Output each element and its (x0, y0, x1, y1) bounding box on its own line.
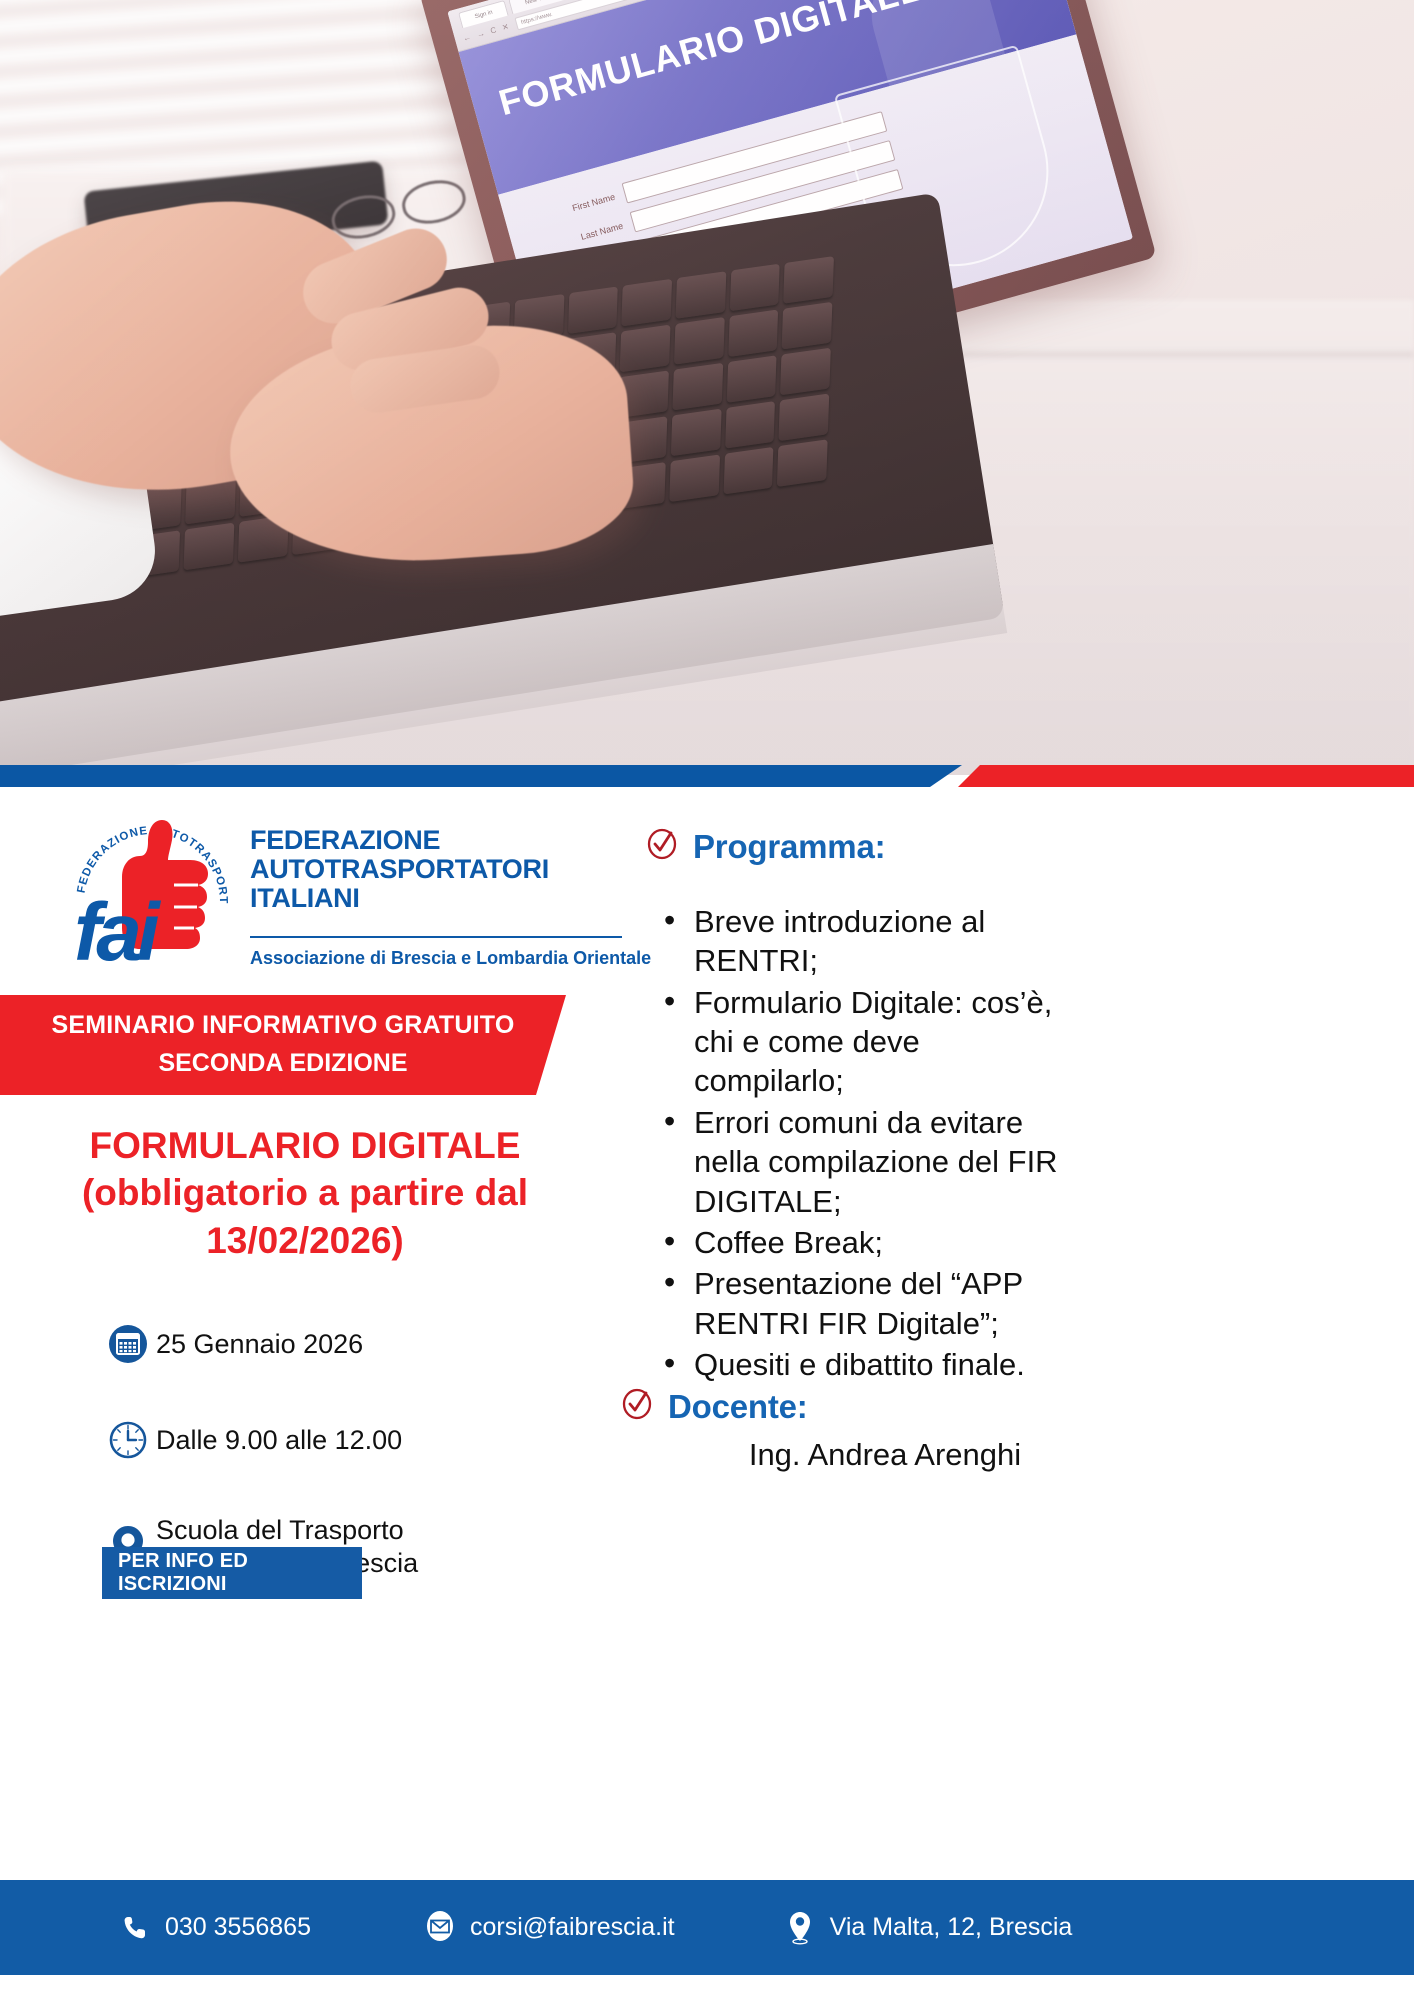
hero-photo: Sign in New Tab 14:23 ← → C ✕ https://ww… (0, 0, 1414, 775)
detail-row-date: 25 Gennaio 2026 (100, 1322, 620, 1366)
list-item: Presentazione del “APP RENTRI FIR Digita… (652, 1264, 1072, 1343)
key (676, 271, 726, 319)
divider-red-bar (958, 765, 1414, 787)
check-circle-icon (645, 827, 679, 866)
footer-address-text: Via Malta, 12, Brescia (830, 1913, 1073, 1942)
location-line-1: Scuola del Trasporto (156, 1515, 404, 1545)
check-circle-icon (620, 1387, 654, 1426)
key (723, 447, 773, 495)
key (669, 454, 719, 502)
poster-content: FEDERAZIONE AUTOTRASPORTATORI ITALIANI f… (0, 787, 1414, 1887)
key (568, 286, 618, 334)
logo-line-1: FEDERAZIONE (250, 826, 622, 855)
key (784, 256, 834, 304)
logo-text-block: FEDERAZIONE AUTOTRASPORTATORI ITALIANI A… (250, 826, 622, 913)
calendar-icon (100, 1322, 156, 1366)
key (730, 264, 780, 312)
info-registration-button[interactable]: PER INFO ED ISCRIZIONI (102, 1547, 362, 1599)
key (777, 439, 827, 487)
key (726, 355, 776, 403)
location-pin-icon (783, 1910, 817, 1946)
fai-logo: FEDERAZIONE AUTOTRASPORTATORI ITALIANI f… (62, 802, 622, 987)
seminar-banner: SEMINARIO INFORMATIVO GRATUITO SECONDA E… (0, 995, 566, 1095)
logo-line-2: AUTOTRASPORTATORI (250, 855, 622, 884)
programma-title: Programma: (693, 828, 885, 866)
list-item: Coffee Break; (652, 1223, 1072, 1262)
key (725, 401, 775, 449)
banner-line-1: SEMINARIO INFORMATIVO GRATUITO (0, 1011, 566, 1040)
divider-bars (0, 765, 1414, 787)
key (184, 523, 234, 571)
key (674, 317, 724, 365)
key (620, 325, 670, 373)
logo-mark: FEDERAZIONE AUTOTRASPORTATORI ITALIANI f… (62, 802, 242, 972)
logo-line-3: ITALIANI (250, 884, 622, 913)
detail-time-text: Dalle 9.00 alle 12.00 (156, 1424, 402, 1457)
footer-phone-text: 030 3556865 (165, 1913, 311, 1942)
docente-title: Docente: (668, 1388, 808, 1426)
programma-list: Breve introduzione al RENTRI; Formulario… (652, 902, 1072, 1386)
key (622, 279, 672, 327)
divider-blue-bar (0, 765, 962, 787)
title-line-2: (obbligatorio a partire dal (0, 1169, 610, 1216)
logo-subtitle: Associazione di Brescia e Lombardia Orie… (250, 948, 650, 969)
key (673, 363, 723, 411)
key (779, 393, 829, 441)
page-title: FORMULARIO DIGITALE (obbligatorio a part… (0, 1122, 610, 1264)
contact-footer: 030 3556865 corsi@faibrescia.it Via Malt… (0, 1880, 1414, 1975)
key (671, 409, 721, 457)
footer-address[interactable]: Via Malta, 12, Brescia (783, 1910, 1073, 1946)
detail-row-time: Dalle 9.00 alle 12.00 (100, 1418, 620, 1462)
logo-wordmark: fai (74, 898, 155, 968)
list-item: Breve introduzione al RENTRI; (652, 902, 1072, 981)
clock-icon (100, 1418, 156, 1462)
phone-icon (118, 1914, 152, 1942)
detail-date-text: 25 Gennaio 2026 (156, 1328, 363, 1361)
key (780, 348, 830, 396)
list-item: Errori comuni da evitare nella compilazi… (652, 1103, 1072, 1221)
footer-phone[interactable]: 030 3556865 (118, 1913, 311, 1942)
key (728, 309, 778, 357)
programma-heading: Programma: (645, 827, 885, 866)
title-line-1: FORMULARIO DIGITALE (0, 1122, 610, 1169)
footer-email-text: corsi@faibrescia.it (470, 1913, 675, 1942)
key (782, 302, 832, 350)
banner-line-2: SECONDA EDIZIONE (0, 1049, 566, 1078)
envelope-icon (423, 1911, 457, 1945)
list-item: Quesiti e dibattito finale. (652, 1345, 1072, 1384)
title-line-3: 13/02/2026) (0, 1217, 610, 1264)
list-item: Formulario Digitale: cos’è, chi e come d… (652, 983, 1072, 1101)
docente-name: Ing. Andrea Arenghi (645, 1437, 1125, 1473)
first-name-label: First Name (552, 189, 626, 218)
logo-divider-rule (250, 936, 622, 938)
docente-heading: Docente: (620, 1387, 808, 1426)
footer-email[interactable]: corsi@faibrescia.it (423, 1911, 675, 1945)
